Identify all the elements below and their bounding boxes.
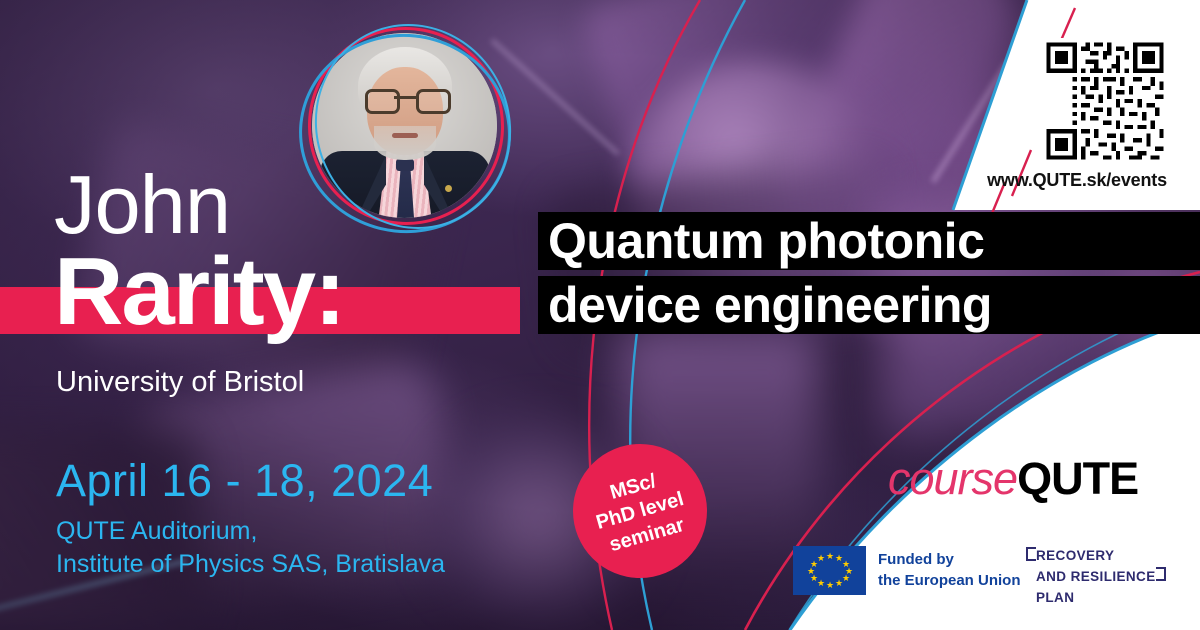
eu-funding-text: Funded by the European Union [878,550,1021,591]
event-venue: QUTE Auditorium, Institute of Physics SA… [56,515,445,581]
talk-title: Quantum photonic device engineering [538,212,1200,334]
speaker-first-name: John [54,163,230,246]
event-date: April 16 - 18, 2024 [56,455,433,507]
event-poster: John Rarity: University of Bristol April… [0,0,1200,630]
coursequte-prefix: course [888,453,1017,504]
venue-line-1: QUTE Auditorium, [56,515,445,548]
talk-title-line-1: Quantum photonic [538,212,1200,270]
qr-code-icon [1042,38,1168,164]
eu-funding-line-2: the European Union [878,571,1021,591]
badge-text: MSc/ PhD level seminar [586,463,693,559]
coursequte-brand: QUTE [1017,453,1138,504]
qr-url-label: www.QUTE.sk/events [977,170,1177,191]
eu-funding-line-1: Funded by [878,550,1021,570]
recovery-resilience-plan-logo: RECOVERY AND RESILIENCE PLAN [1036,546,1156,609]
coursequte-logo: courseQUTE [888,456,1138,501]
speaker-affiliation: University of Bristol [56,366,304,399]
venue-line-2: Institute of Physics SAS, Bratislava [56,548,445,581]
speaker-last-name: Rarity: [54,244,344,340]
talk-title-line-2: device engineering [538,276,1200,334]
bracket-right-icon [1156,567,1166,581]
eu-flag-icon: ★ ★ ★ ★ ★ ★ ★ ★ ★ ★ ★ ★ [793,546,866,595]
qr-code[interactable] [1042,38,1168,164]
seminar-level-badge: MSc/ PhD level seminar [573,444,707,578]
eu-funding-logo: ★ ★ ★ ★ ★ ★ ★ ★ ★ ★ ★ ★ Funded by the Eu… [793,546,1021,595]
bracket-left-icon [1026,547,1036,561]
rrp-line-3: PLAN [1036,588,1156,609]
rrp-line-2: AND RESILIENCE [1036,567,1156,588]
speaker-portrait [312,33,497,218]
rrp-line-1: RECOVERY [1036,546,1156,567]
